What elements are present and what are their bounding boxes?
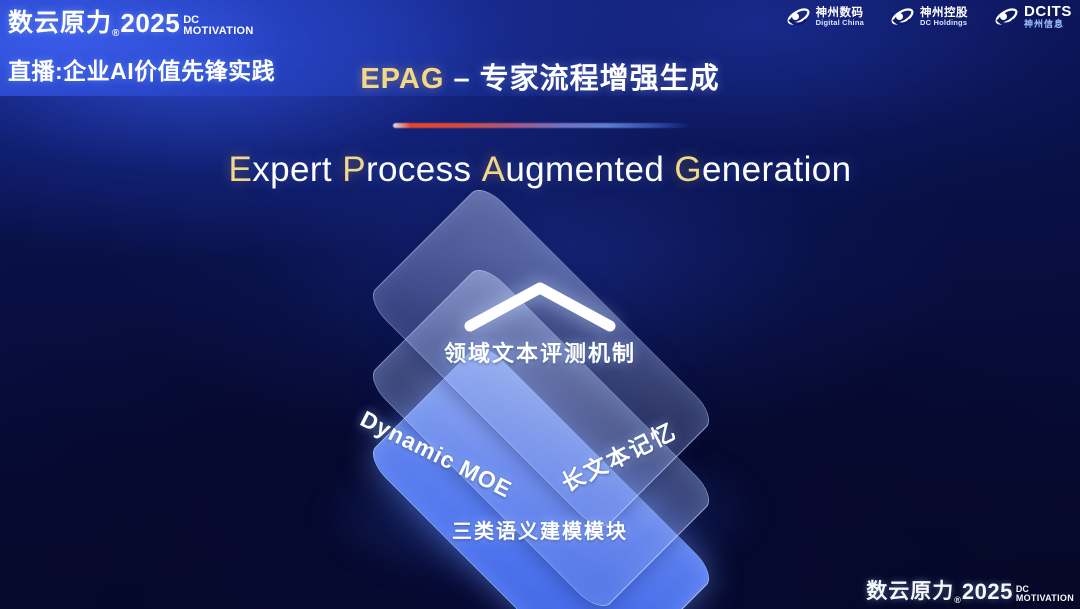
brand-dc-motivation: DC MOTIVATION: [183, 15, 253, 39]
brand-name-cn: 数云原力: [8, 3, 112, 39]
brand-name-cn: 数云原力: [866, 575, 954, 605]
partner-logo-dc-holdings: 神州控股 DC Holdings: [890, 4, 968, 29]
partner-logo-group: 神州数码 Digital China 神州控股 DC Holdings: [786, 4, 1072, 29]
swirl-icon: [890, 4, 915, 29]
slide-canvas: 数云原力 ® 2025 DC MOTIVATION 直播:企业AI价值先锋实践 …: [0, 0, 1080, 609]
registered-mark: ®: [112, 28, 119, 39]
subtitle-word-process: rocess: [366, 150, 472, 189]
subtitle-word-generation: eneration: [702, 150, 852, 189]
subtitle-initial-e: E: [229, 150, 253, 189]
subtitle-initial-p: P: [342, 150, 366, 189]
brand-logo-topleft: 数云原力 ® 2025 DC MOTIVATION: [8, 3, 254, 39]
layer-stack-diagram: 领域文本评测机制 Dynamic MOE 长文本记忆 三类语义建模模块: [290, 228, 790, 558]
swirl-icon: [994, 4, 1019, 29]
brand-dc-motivation: DC MOTIVATION: [1016, 585, 1074, 605]
title-dash: –: [444, 63, 479, 95]
partner-name-en: Digital China: [816, 19, 864, 27]
partner-logo-dcits: DCITS 神州信息: [994, 4, 1072, 29]
title-acronym: EPAG: [360, 63, 444, 95]
subtitle-word-expert: xpert: [252, 150, 332, 189]
page-title: EPAG – 专家流程增强生成: [0, 55, 1080, 97]
title-divider: [393, 123, 689, 128]
partner-logo-digital-china: 神州数码 Digital China: [786, 4, 864, 29]
partner-label: 神州数码 Digital China: [816, 7, 864, 27]
subtitle-word-augmented: ugmented: [505, 150, 664, 189]
partner-name-cn: 神州信息: [1024, 20, 1072, 29]
partner-label: DCITS 神州信息: [1024, 4, 1072, 29]
subtitle-initial-a: A: [482, 150, 506, 189]
partner-name-en: DCITS: [1024, 4, 1072, 20]
subtitle-initial-g: G: [674, 150, 702, 189]
brand-dc-bottom: MOTIVATION: [183, 26, 253, 37]
brand-year: 2025: [962, 579, 1013, 605]
partner-name-cn: 神州控股: [920, 7, 968, 19]
swirl-icon: [786, 4, 811, 29]
title-chinese: 专家流程增强生成: [480, 63, 720, 95]
brand-dc-bottom: MOTIVATION: [1016, 594, 1074, 603]
partner-label: 神州控股 DC Holdings: [920, 7, 968, 27]
partner-name-en: DC Holdings: [920, 19, 968, 27]
registered-mark: ®: [954, 595, 961, 605]
partner-name-cn: 神州数码: [816, 7, 864, 19]
brand-year: 2025: [120, 8, 180, 39]
subtitle: Expert Process Augmented Generation: [0, 150, 1080, 190]
brand-logo-watermark: 数云原力 ® 2025 DC MOTIVATION: [866, 575, 1074, 605]
chevron-up-icon: [460, 278, 620, 336]
